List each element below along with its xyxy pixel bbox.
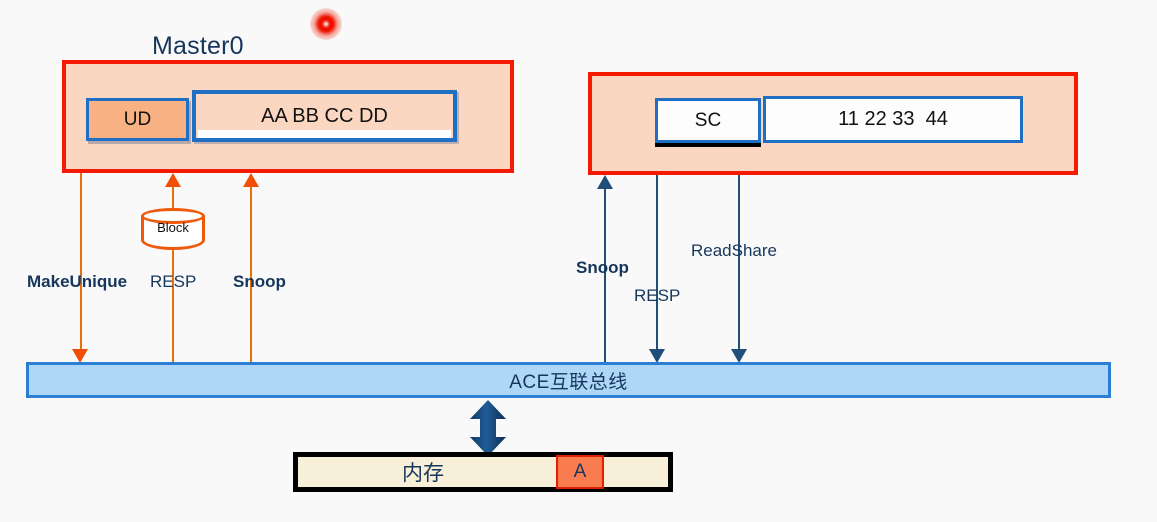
resp-right-arrow-line (656, 175, 658, 357)
memory-cell-a: A (556, 455, 604, 489)
master1-state-cell: SC (655, 98, 761, 143)
snoop-right-label: Snoop (576, 258, 629, 278)
block-node-label: Block (141, 220, 205, 235)
memory-box: 内存 A (293, 452, 673, 492)
resp-right-label: RESP (634, 286, 680, 306)
master0-data-strip (198, 130, 451, 138)
resp-left-arrowhead (165, 173, 181, 187)
readshare-arrowhead (731, 349, 747, 363)
snoop-left-arrowhead (243, 173, 259, 187)
ace-interconnect-bus: ACE互联总线 (26, 362, 1111, 398)
memory-label: 内存 (298, 457, 548, 487)
resp-right-arrowhead (649, 349, 665, 363)
master1-data-cell: 11 22 33 44 (763, 96, 1023, 143)
makeunique-arrowhead (72, 349, 88, 363)
master0-state-cell: UD (86, 98, 189, 141)
readshare-arrow-line (738, 175, 740, 357)
snoop-right-arrowhead (597, 175, 613, 189)
laser-pointer-cursor (310, 8, 342, 40)
ace-bus-label: ACE互联总线 (509, 367, 628, 394)
bus-memory-double-arrow (466, 400, 510, 456)
makeunique-arrow-line (80, 173, 82, 357)
snoop-left-label: Snoop (233, 272, 286, 292)
resp-left-label: RESP (150, 272, 196, 292)
diagram-canvas: Master0 UD AA BB CC DD SC 11 22 33 44 Ma… (0, 0, 1157, 522)
block-node: Block (141, 208, 205, 254)
master0-title: Master0 (152, 32, 244, 61)
makeunique-label: MakeUnique (27, 272, 127, 292)
readshare-label: ReadShare (691, 241, 777, 261)
